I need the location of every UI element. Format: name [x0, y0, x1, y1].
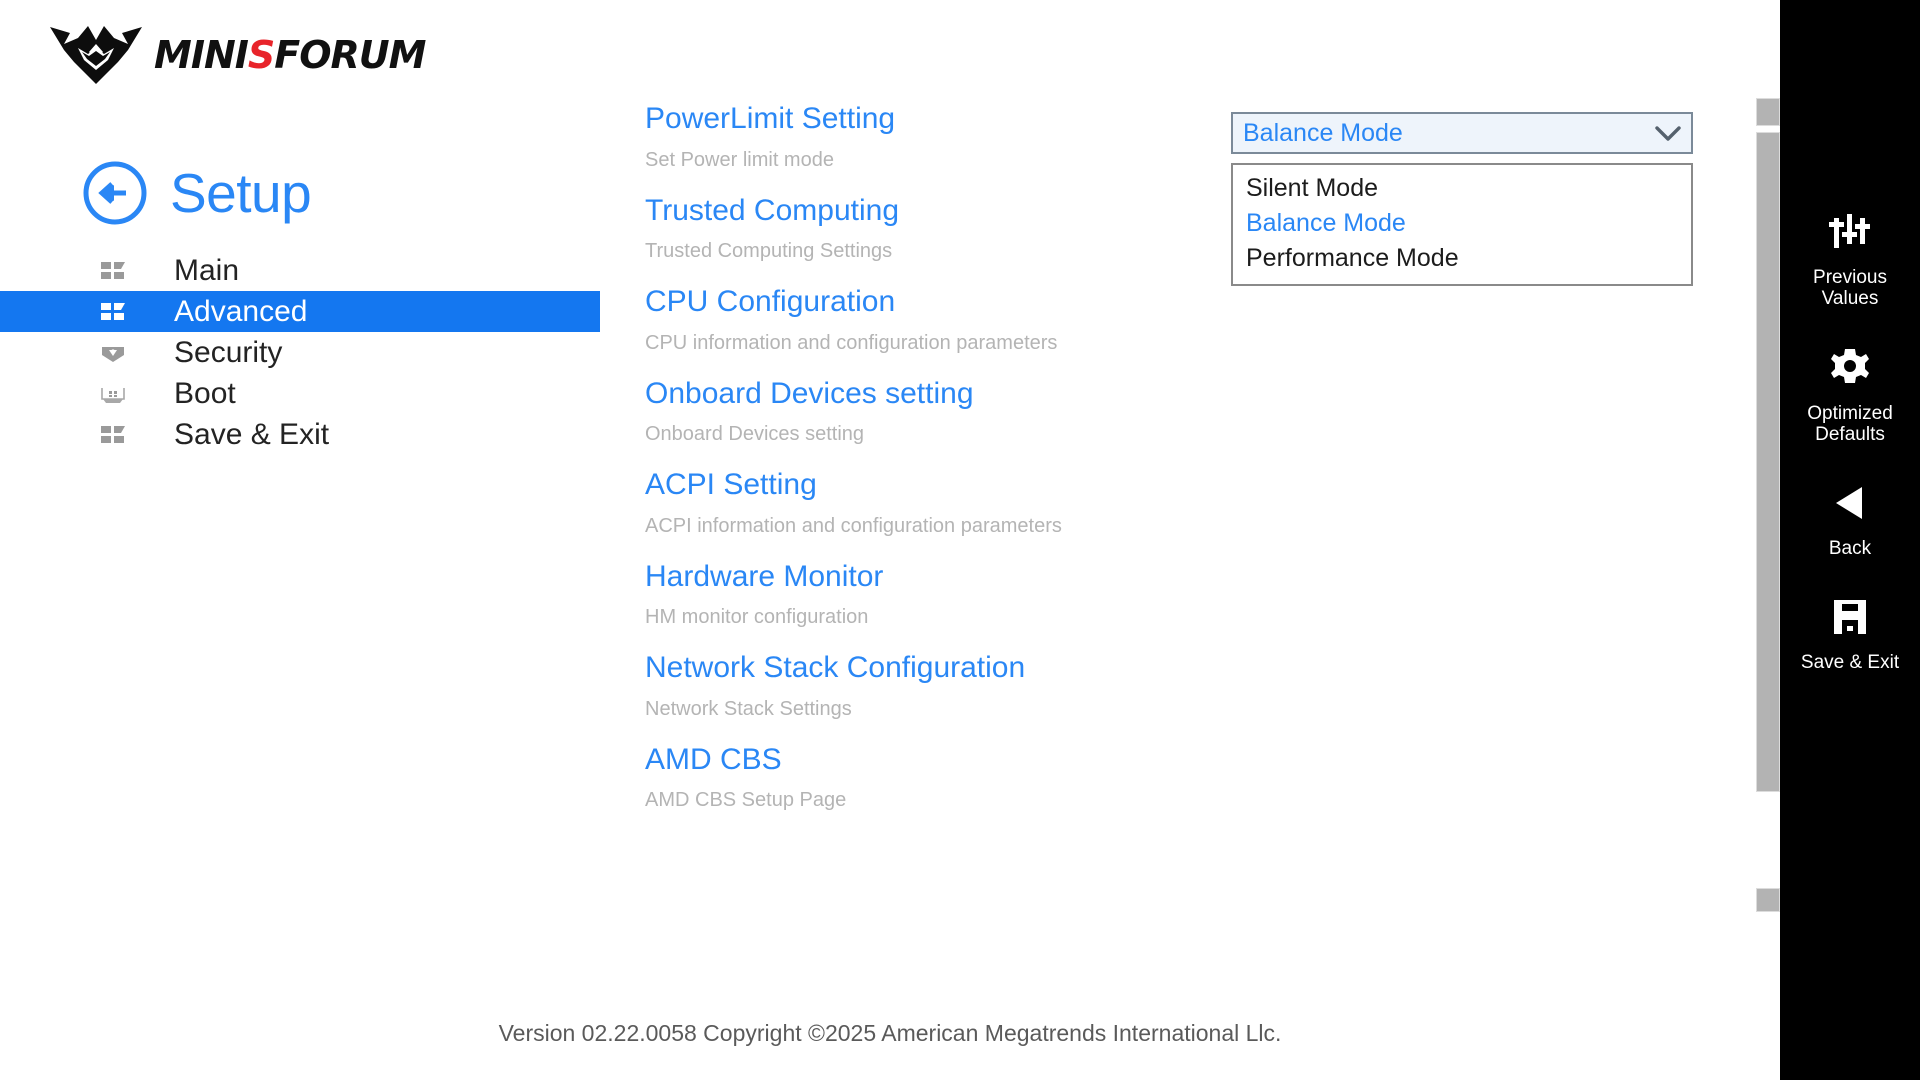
- sidebar-item-boot[interactable]: Boot: [0, 373, 600, 414]
- option-row: Hardware Monitor HM monitor configuratio…: [645, 558, 1735, 631]
- scroll-up-arrow[interactable]: [1756, 98, 1780, 126]
- brand-logo: MINISFORUM: [48, 24, 425, 86]
- previous-values-button[interactable]: Previous Values: [1780, 210, 1920, 310]
- optimized-defaults-button[interactable]: Optimized Defaults: [1780, 346, 1920, 446]
- right-toolbar: Previous Values Optimized Defaults Back: [1780, 0, 1920, 1080]
- back-label: Back: [1829, 538, 1871, 559]
- grid-blocks-icon: [100, 299, 126, 325]
- option-title-onboard-devices-setting[interactable]: Onboard Devices setting: [645, 375, 1735, 413]
- option-title-amd-cbs[interactable]: AMD CBS: [645, 741, 1735, 779]
- triangle-left-icon: [1828, 481, 1872, 525]
- sidebar-item-main[interactable]: Main: [0, 250, 600, 291]
- previous-values-label: Previous Values: [1813, 267, 1887, 310]
- option-desc: CPU information and configuration parame…: [645, 331, 1735, 356]
- sidebar-item-label: Security: [174, 338, 282, 368]
- version-footer: Version 02.22.0058 Copyright ©2025 Ameri…: [0, 1020, 1780, 1047]
- option-title-acpi-setting[interactable]: ACPI Setting: [645, 466, 1735, 504]
- powerlimit-dropdown-options: Silent Mode Balance Mode Performance Mod…: [1231, 163, 1693, 286]
- option-row: CPU Configuration CPU information and co…: [645, 283, 1735, 356]
- option-desc: Onboard Devices setting: [645, 422, 1735, 447]
- sidebar-item-advanced[interactable]: Advanced: [0, 291, 600, 332]
- sidebar-item-save-exit[interactable]: Save & Exit: [0, 414, 600, 455]
- monitor-boot-icon: [100, 381, 126, 407]
- back-button[interactable]: Back: [1780, 481, 1920, 559]
- sidebar-item-label: Boot: [174, 379, 236, 409]
- circle-arrow-left-icon[interactable]: [82, 160, 148, 226]
- bios-setup-screen: MINISFORUM Setup Main: [0, 0, 1920, 1080]
- option-desc: ACPI information and configuration param…: [645, 514, 1735, 539]
- setup-header: Setup: [82, 160, 311, 226]
- option-desc: HM monitor configuration: [645, 605, 1735, 630]
- sidebar-item-label: Save & Exit: [174, 420, 329, 450]
- chevron-down-icon[interactable]: [1651, 122, 1685, 144]
- gear-icon: [1828, 346, 1872, 390]
- scrollbar-thumb[interactable]: [1756, 132, 1780, 792]
- option-title-network-stack-configuration[interactable]: Network Stack Configuration: [645, 649, 1735, 687]
- brand-wordmark: MINISFORUM: [154, 36, 425, 74]
- option-desc: Network Stack Settings: [645, 697, 1735, 722]
- dropdown-option-balance-mode[interactable]: Balance Mode: [1233, 206, 1691, 241]
- grid-blocks-icon: [100, 258, 126, 284]
- sidebar-item-security[interactable]: Security: [0, 332, 600, 373]
- sliders-icon: [1827, 210, 1873, 254]
- save-exit-label: Save & Exit: [1801, 652, 1899, 673]
- dropdown-selected-value: Balance Mode: [1243, 121, 1651, 146]
- content-scrollbar[interactable]: [1756, 98, 1780, 918]
- option-desc: AMD CBS Setup Page: [645, 788, 1735, 813]
- brand-name-s: S: [248, 33, 274, 77]
- dropdown-option-performance-mode[interactable]: Performance Mode: [1233, 241, 1691, 276]
- option-row: Network Stack Configuration Network Stac…: [645, 649, 1735, 722]
- brand-name-part1: MINI: [154, 33, 248, 77]
- page-title: Setup: [170, 166, 311, 221]
- floppy-save-icon: [1828, 595, 1872, 639]
- sidebar-item-label: Main: [174, 256, 239, 286]
- save-exit-button[interactable]: Save & Exit: [1780, 595, 1920, 673]
- sidebar-nav: Main Advanced Security: [0, 250, 600, 455]
- sidebar-item-label: Advanced: [174, 297, 307, 327]
- minisforum-logo-mark-icon: [48, 24, 144, 86]
- option-row: AMD CBS AMD CBS Setup Page: [645, 741, 1735, 814]
- option-title-hardware-monitor[interactable]: Hardware Monitor: [645, 558, 1735, 596]
- dropdown-option-silent-mode[interactable]: Silent Mode: [1233, 171, 1691, 206]
- option-row: ACPI Setting ACPI information and config…: [645, 466, 1735, 539]
- option-title-cpu-configuration[interactable]: CPU Configuration: [645, 283, 1735, 321]
- shield-icon: [100, 340, 126, 366]
- optimized-defaults-label: Optimized Defaults: [1807, 403, 1893, 446]
- brand-name-part2: FORUM: [274, 33, 425, 77]
- option-row: Onboard Devices setting Onboard Devices …: [645, 375, 1735, 448]
- powerlimit-dropdown[interactable]: Balance Mode: [1231, 112, 1693, 154]
- scroll-down-arrow[interactable]: [1756, 888, 1780, 912]
- grid-blocks-icon: [100, 422, 126, 448]
